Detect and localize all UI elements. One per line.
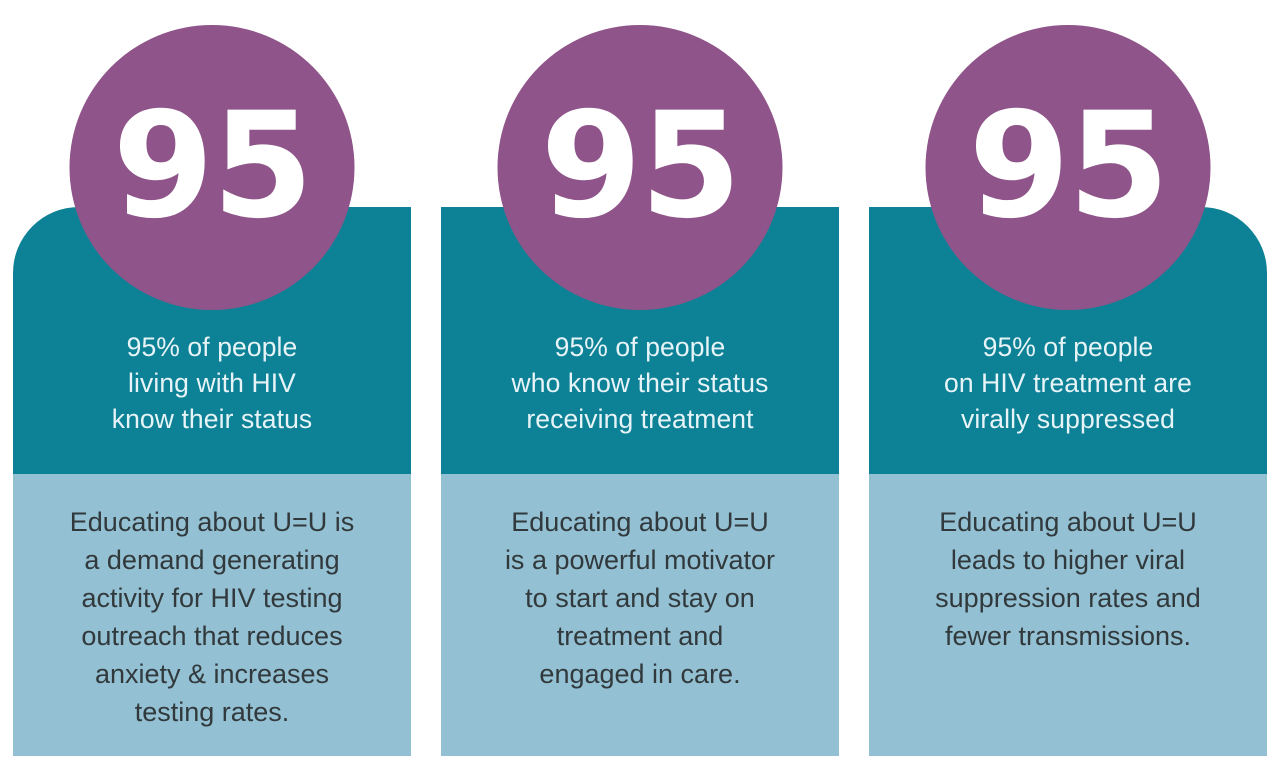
- stat-column-3: 95% of people on HIV treatment are viral…: [869, 0, 1267, 768]
- stat-card-2-body: Educating about U=U is a powerful motiva…: [441, 474, 839, 756]
- stat-card-1-headline: 95% of people living with HIV know their…: [13, 329, 411, 437]
- stat-badge-3: 95: [926, 25, 1211, 310]
- stat-card-2-headline: 95% of people who know their status rece…: [441, 329, 839, 437]
- stat-card-3-description: Educating about U=U leads to higher vira…: [869, 503, 1267, 655]
- columns-container: 95% of people living with HIV know their…: [0, 0, 1280, 768]
- stat-column-2: 95% of people who know their status rece…: [441, 0, 839, 768]
- stat-column-1: 95% of people living with HIV know their…: [13, 0, 411, 768]
- stat-badge-1: 95: [70, 25, 355, 310]
- stat-card-3-headline: 95% of people on HIV treatment are viral…: [869, 329, 1267, 437]
- stat-badge-1-number: 95: [112, 93, 311, 239]
- infographic-95-95-95: 95% of people living with HIV know their…: [0, 0, 1280, 768]
- stat-card-2-description: Educating about U=U is a powerful motiva…: [441, 503, 839, 693]
- stat-card-3-body: Educating about U=U leads to higher vira…: [869, 474, 1267, 756]
- stat-badge-3-number: 95: [968, 93, 1167, 239]
- stat-card-1-description: Educating about U=U is a demand generati…: [13, 503, 411, 731]
- stat-badge-2: 95: [498, 25, 783, 310]
- stat-card-1-body: Educating about U=U is a demand generati…: [13, 474, 411, 756]
- stat-badge-2-number: 95: [540, 93, 739, 239]
